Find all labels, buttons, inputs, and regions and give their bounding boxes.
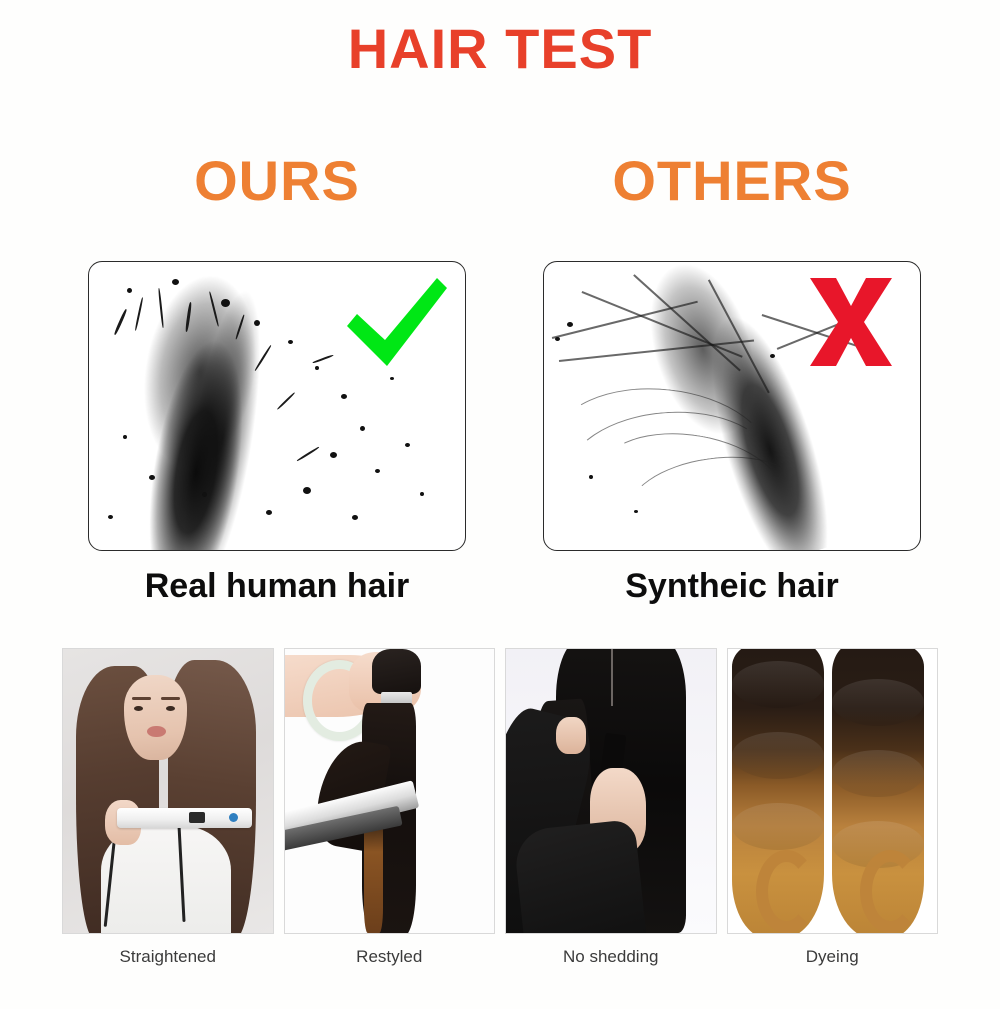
feature-photo-straightened xyxy=(62,648,274,934)
feature-caption-dyeing: Dyeing xyxy=(727,946,939,968)
feature-photo-restyled xyxy=(284,648,496,934)
feature-photo-dyeing xyxy=(727,648,939,934)
ash-speck xyxy=(390,377,394,380)
ash-speck xyxy=(352,515,358,520)
fiber-speck xyxy=(567,322,573,327)
hair-test-infographic: HAIR TEST OURS OTHERS xyxy=(0,0,1000,1009)
ash-speck xyxy=(360,426,365,431)
check-icon xyxy=(341,274,451,370)
ash-speck xyxy=(341,394,347,399)
ash-speck xyxy=(266,510,272,515)
panel-caption-others: Syntheic hair xyxy=(543,566,921,607)
comparison-panel-ours xyxy=(88,261,466,551)
ash-speck xyxy=(303,487,311,494)
feature-photo-strip xyxy=(62,648,938,932)
ash-speck xyxy=(315,366,319,370)
ash-speck xyxy=(172,279,179,285)
feature-photo-no-shedding xyxy=(505,648,717,934)
photo-ombre-bundles xyxy=(728,649,938,933)
column-header-others: OTHERS xyxy=(543,152,921,211)
ash-speck xyxy=(123,435,127,439)
cross-icon xyxy=(796,274,906,370)
feature-caption-straightened: Straightened xyxy=(62,946,274,968)
page-title: HAIR TEST xyxy=(0,20,1000,79)
photo-bundle-restyled xyxy=(285,649,495,933)
panel-caption-ours: Real human hair xyxy=(88,566,466,607)
ash-speck xyxy=(330,452,337,458)
ash-speck xyxy=(288,340,293,344)
fiber-speck xyxy=(555,337,560,341)
ash-speck xyxy=(375,469,380,473)
feature-caption-no-shedding: No shedding xyxy=(505,946,717,968)
ash-speck xyxy=(420,492,424,496)
feature-caption-restyled: Restyled xyxy=(284,946,496,968)
photo-no-shedding xyxy=(506,649,716,933)
column-header-ours: OURS xyxy=(88,152,466,211)
fiber-speck xyxy=(770,354,775,358)
ash-speck xyxy=(127,288,132,293)
comparison-panel-others xyxy=(543,261,921,551)
feature-caption-row: Straightened Restyled No shedding Dyeing xyxy=(62,946,938,968)
fiber-speck xyxy=(634,510,638,513)
ash-speck xyxy=(405,443,410,447)
photo-model-straightening xyxy=(63,649,273,933)
